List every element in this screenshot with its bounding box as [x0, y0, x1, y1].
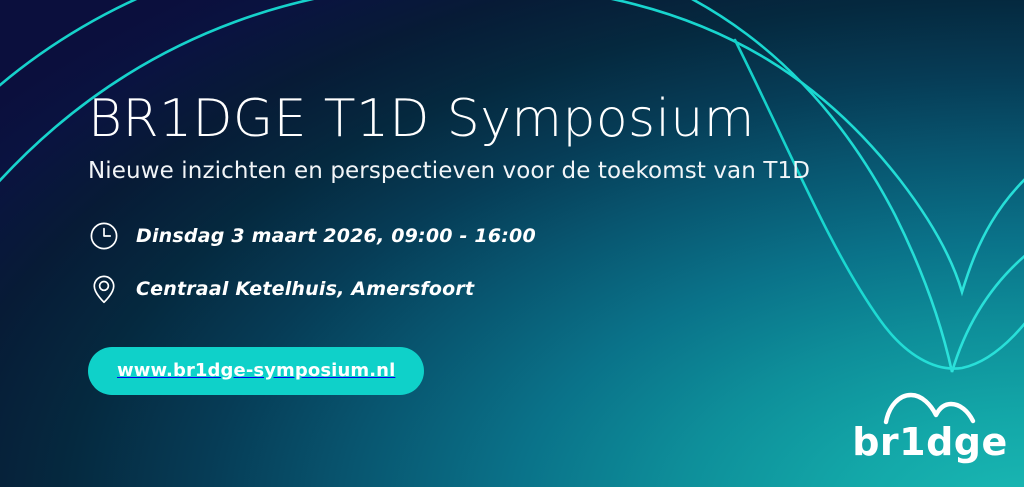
event-banner: BR1DGE T1D Symposium Nieuwe inzichten en… — [0, 0, 1024, 487]
banner-content: BR1DGE T1D Symposium Nieuwe inzichten en… — [88, 0, 888, 487]
map-pin-icon — [88, 273, 120, 305]
page-title: BR1DGE T1D Symposium — [88, 92, 888, 146]
website-cta-button[interactable]: www.br1dge-symposium.nl — [88, 347, 424, 395]
event-detail-location: Centraal Ketelhuis, Amersfoort — [88, 273, 888, 305]
brand-logo[interactable]: br1dge — [864, 391, 996, 461]
website-cta-label: www.br1dge-symposium.nl — [117, 360, 395, 381]
event-location-text: Centraal Ketelhuis, Amersfoort — [136, 278, 474, 300]
event-details: Dinsdag 3 maart 2026, 09:00 - 16:00 Cent… — [88, 220, 888, 305]
page-subtitle: Nieuwe inzichten en perspectieven voor d… — [88, 158, 888, 184]
event-detail-date: Dinsdag 3 maart 2026, 09:00 - 16:00 — [88, 220, 888, 252]
brand-wordmark: br1dge — [852, 423, 1008, 461]
event-date-text: Dinsdag 3 maart 2026, 09:00 - 16:00 — [136, 225, 536, 247]
clock-icon — [88, 220, 120, 252]
